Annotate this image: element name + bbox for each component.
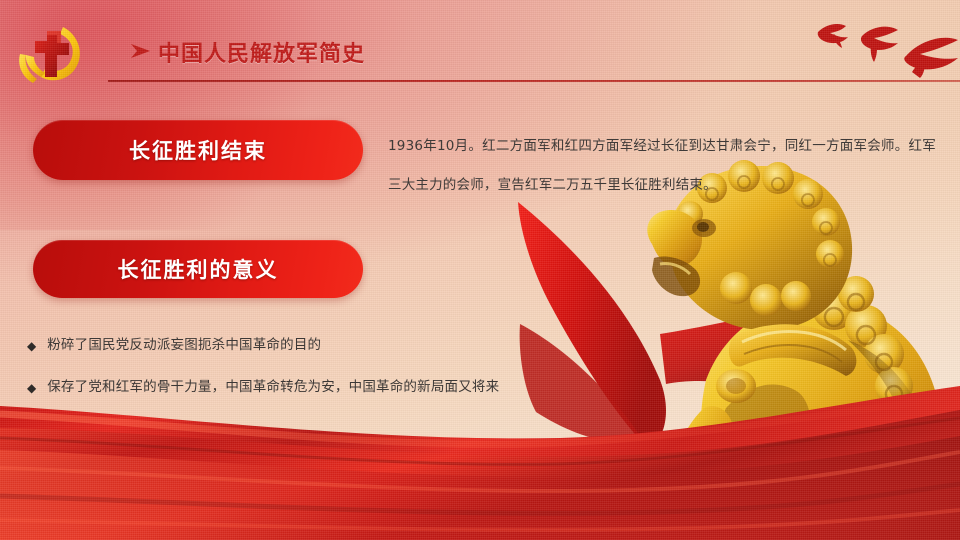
list-item: ◆ 粉碎了国民党反动派妄图扼杀中国革命的目的 xyxy=(27,336,627,355)
list-item-text: 粉碎了国民党反动派妄图扼杀中国革命的目的 xyxy=(47,336,321,355)
section-pill-long-march-significance[interactable]: 长征胜利的意义 xyxy=(33,240,363,298)
section-pill-long-march-end[interactable]: 长征胜利结束 xyxy=(33,120,363,180)
flying-doves-icon xyxy=(812,14,960,78)
list-item: ◆ 保存了党和红军的骨干力量，中国革命转危为安，中国革命的新局面又将来 xyxy=(27,378,627,397)
diamond-bullet-icon: ◆ xyxy=(27,379,36,398)
list-item-text: 保存了党和红军的骨干力量，中国革命转危为安，中国革命的新局面又将来 xyxy=(47,378,499,397)
header-divider xyxy=(108,80,960,82)
party-hammer-sickle-emblem xyxy=(17,19,89,85)
slide-root: 中国人民解放军简史 长征胜利结束 长征胜利的意义 1936年10月。红二方面军和… xyxy=(0,0,960,540)
chevron-right-arrow-icon xyxy=(128,40,154,62)
pill-label: 长征胜利的意义 xyxy=(118,254,279,284)
body-paragraph: 1936年10月。红二方面军和红四方面军经过长征到达甘肃会宁，同红一方面军会师。… xyxy=(388,127,936,205)
pill-label: 长征胜利结束 xyxy=(129,135,267,165)
diamond-bullet-icon: ◆ xyxy=(27,337,36,356)
page-title: 中国人民解放军简史 xyxy=(158,36,365,68)
bullet-list: ◆ 粉碎了国民党反动派妄图扼杀中国革命的目的 ◆ 保存了党和红军的骨干力量，中国… xyxy=(27,336,627,420)
